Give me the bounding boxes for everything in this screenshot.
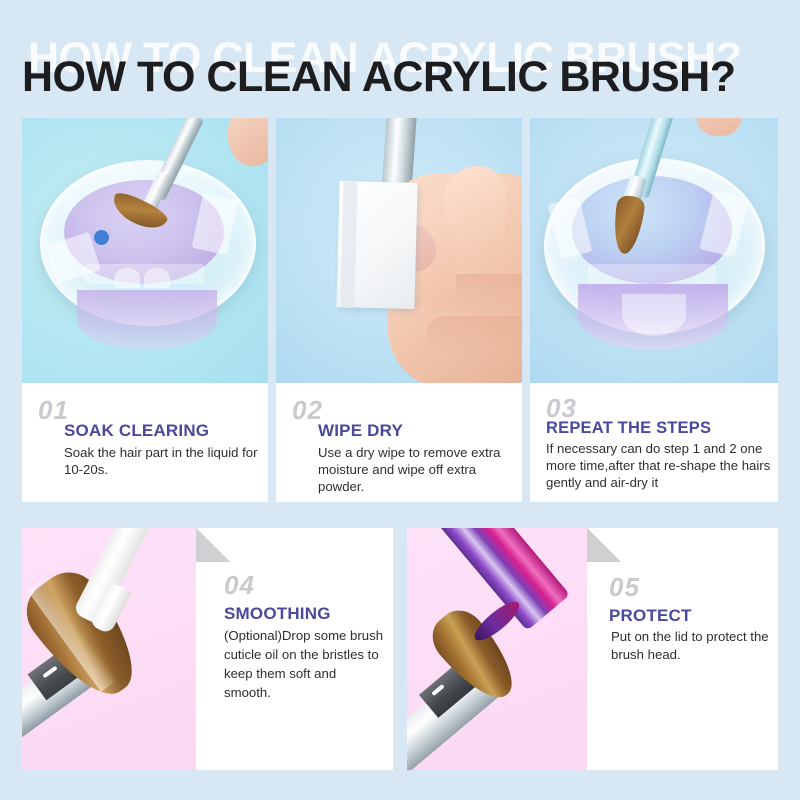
step-photo-03 [530, 118, 778, 383]
step-photo-05 [407, 528, 587, 770]
step-text-03: 03 REPEAT THE STEPS If necessary can do … [530, 383, 778, 502]
step-card-02: 02 WIPE DRY Use a dry wipe to remove ext… [276, 118, 522, 502]
corner-accent-05 [587, 528, 621, 562]
page-title-text: HOW TO CLEAN ACRYLIC BRUSH? [22, 53, 736, 102]
step-body-01: Soak the hair part in the liquid for 10-… [64, 445, 264, 479]
step-body-02: Use a dry wipe to remove extra moisture … [318, 445, 514, 495]
step-body-05: Put on the lid to protect the brush head… [611, 628, 778, 665]
step-photo-04 [22, 528, 196, 770]
step-text-04: 04 SMOOTHING (Optional)Drop some brush c… [196, 528, 393, 770]
step-card-03: 03 REPEAT THE STEPS If necessary can do … [530, 118, 778, 502]
step-title-03: REPEAT THE STEPS [546, 419, 711, 438]
step-title-04: SMOOTHING [224, 604, 331, 624]
page-title: HOW TO CLEAN ACRYLIC BRUSH? HOW TO CLEAN… [22, 34, 782, 104]
step-text-05: 05 PROTECT Put on the lid to protect the… [587, 528, 778, 770]
step-card-01: 01 SOAK CLEARING Soak the hair part in t… [22, 118, 268, 502]
step-number-05: 05 [609, 572, 640, 603]
step-card-05: 05 PROTECT Put on the lid to protect the… [407, 528, 778, 770]
step-photo-01 [22, 118, 268, 383]
step-text-01: 01 SOAK CLEARING Soak the hair part in t… [22, 383, 268, 502]
step-photo-02 [276, 118, 522, 383]
infographic-page: HOW TO CLEAN ACRYLIC BRUSH? HOW TO CLEAN… [0, 0, 800, 800]
step-title-02: WIPE DRY [318, 421, 403, 441]
step-number-04: 04 [224, 570, 255, 601]
steps-row-top: 01 SOAK CLEARING Soak the hair part in t… [22, 118, 778, 502]
step-title-01: SOAK CLEARING [64, 421, 209, 441]
step-title-05: PROTECT [609, 606, 692, 626]
step-body-04: (Optional)Drop some brush cuticle oil on… [224, 626, 384, 703]
step-body-03: If necessary can do step 1 and 2 one mor… [546, 441, 774, 491]
steps-row-bottom: 04 SMOOTHING (Optional)Drop some brush c… [22, 528, 778, 770]
corner-accent-04 [196, 528, 230, 562]
step-card-04: 04 SMOOTHING (Optional)Drop some brush c… [22, 528, 393, 770]
step-text-02: 02 WIPE DRY Use a dry wipe to remove ext… [276, 383, 522, 502]
